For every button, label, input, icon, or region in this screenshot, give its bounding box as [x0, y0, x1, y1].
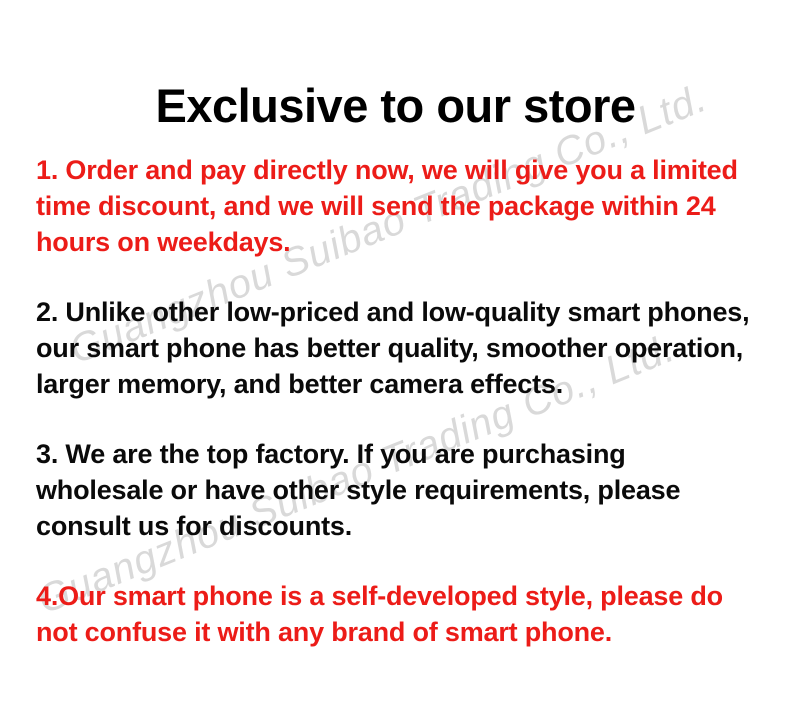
paragraph-4: 4.Our smart phone is a self-developed st…: [36, 578, 752, 650]
promo-banner-page: Guangzhou Suibao Trading Co., Ltd. Guang…: [0, 0, 791, 719]
paragraph-3: 3. We are the top factory. If you are pu…: [36, 436, 752, 544]
page-title: Exclusive to our store: [0, 81, 791, 130]
content-layer: Exclusive to our store 1. Order and pay …: [0, 0, 791, 719]
paragraph-1: 1. Order and pay directly now, we will g…: [36, 152, 752, 260]
body-text-block: 1. Order and pay directly now, we will g…: [36, 152, 752, 650]
paragraph-2: 2. Unlike other low-priced and low-quali…: [36, 294, 752, 402]
